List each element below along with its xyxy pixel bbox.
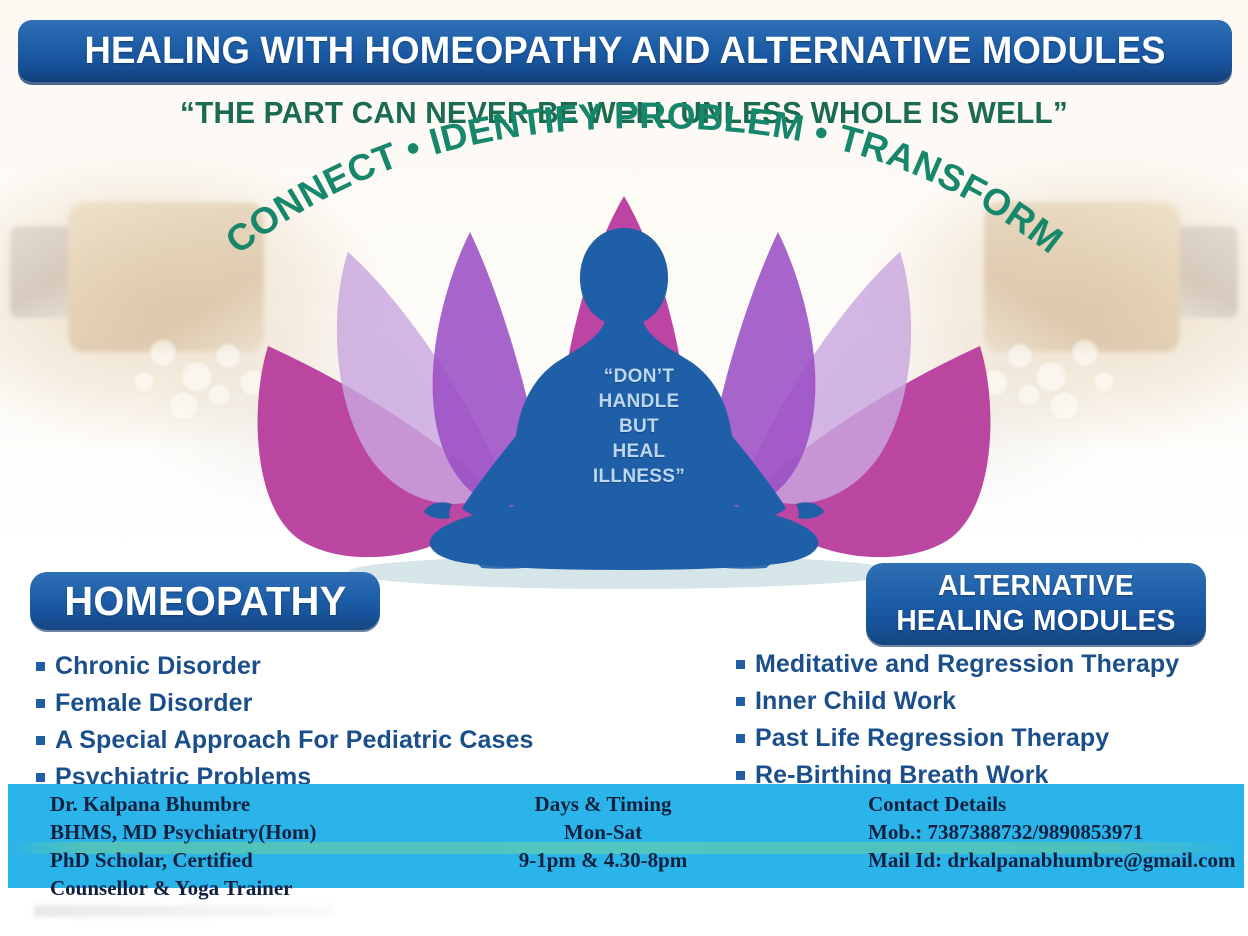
list-item-label: Chronic Disorder [55,650,261,682]
alternative-healing-badge: ALTERNATIVE HEALING MODULES [866,563,1206,645]
chest-quote-line-3: BUT [569,414,709,439]
doctor-qualification: BHMS, MD Psychiatry(Hom) [50,818,317,846]
list-item: Chronic Disorder [36,650,596,682]
chest-quote-line-2: HANDLE [569,389,709,414]
alternative-healing-badge-line-1: ALTERNATIVE [938,569,1134,604]
homeopathy-badge-label: HOMEOPATHY [64,578,346,625]
list-item-label: Female Disorder [55,687,252,719]
chest-quote: “DON’T HANDLE BUT HEAL ILLNESS” [569,364,709,489]
bullet-square-icon [36,699,45,708]
bullet-square-icon [736,697,745,706]
list-item: A Special Approach For Pediatric Cases [36,724,596,756]
homeopathy-service-list: Chronic Disorder Female Disorder A Speci… [36,650,596,798]
days-timing-block: Days & Timing Mon-Sat 9-1pm & 4.30-8pm [438,790,768,874]
chest-quote-line-1: “DON’T [569,364,709,389]
contact-footer-band: Dr. Kalpana Bhumbre BHMS, MD Psychiatry(… [8,784,1244,888]
days-value: Mon-Sat [438,818,768,846]
bullet-square-icon [36,736,45,745]
bullet-square-icon [736,771,745,780]
doctor-name: Dr. Kalpana Bhumbre [50,790,317,818]
timing-value: 9-1pm & 4.30-8pm [438,846,768,874]
alternative-healing-service-list: Meditative and Regression Therapy Inner … [736,648,1236,796]
poster-title: HEALING WITH HOMEOPATHY AND ALTERNATIVE … [84,30,1165,73]
list-item: Meditative and Regression Therapy [736,648,1236,680]
bullet-square-icon [736,660,745,669]
list-item: Past Life Regression Therapy [736,722,1236,754]
list-item: Female Disorder [36,687,596,719]
mobile-numbers[interactable]: Mob.: 7387388732/9890853971 [868,818,1235,846]
list-item: Inner Child Work [736,685,1236,717]
homeopathy-badge: HOMEOPATHY [30,572,380,630]
figure-head [580,228,668,326]
list-item-label: Inner Child Work [755,685,956,717]
email-address[interactable]: Mail Id: drkalpanabhumbre@gmail.com [868,846,1235,874]
doctor-credential-line-3: PhD Scholar, Certified [50,846,317,874]
chest-quote-line-5: ILLNESS” [569,464,709,489]
poster-title-bar: HEALING WITH HOMEOPATHY AND ALTERNATIVE … [18,20,1232,82]
bullet-square-icon [36,773,45,782]
contact-details-block: Contact Details Mob.: 7387388732/9890853… [868,790,1235,874]
doctor-credential-line-4: Counsellor & Yoga Trainer [50,874,317,902]
poster-canvas: HEALING WITH HOMEOPATHY AND ALTERNATIVE … [0,0,1248,936]
bullet-square-icon [36,662,45,671]
alternative-healing-badge-line-2: HEALING MODULES [896,604,1175,639]
doctor-credentials-block: Dr. Kalpana Bhumbre BHMS, MD Psychiatry(… [50,790,317,902]
bottom-scan-artifact [34,905,334,917]
list-item-label: Past Life Regression Therapy [755,722,1109,754]
days-timing-heading: Days & Timing [438,790,768,818]
contact-details-heading: Contact Details [868,790,1235,818]
chest-quote-line-4: HEAL [569,439,709,464]
list-item-label: Meditative and Regression Therapy [755,648,1179,680]
bullet-square-icon [736,734,745,743]
list-item-label: A Special Approach For Pediatric Cases [55,724,534,756]
